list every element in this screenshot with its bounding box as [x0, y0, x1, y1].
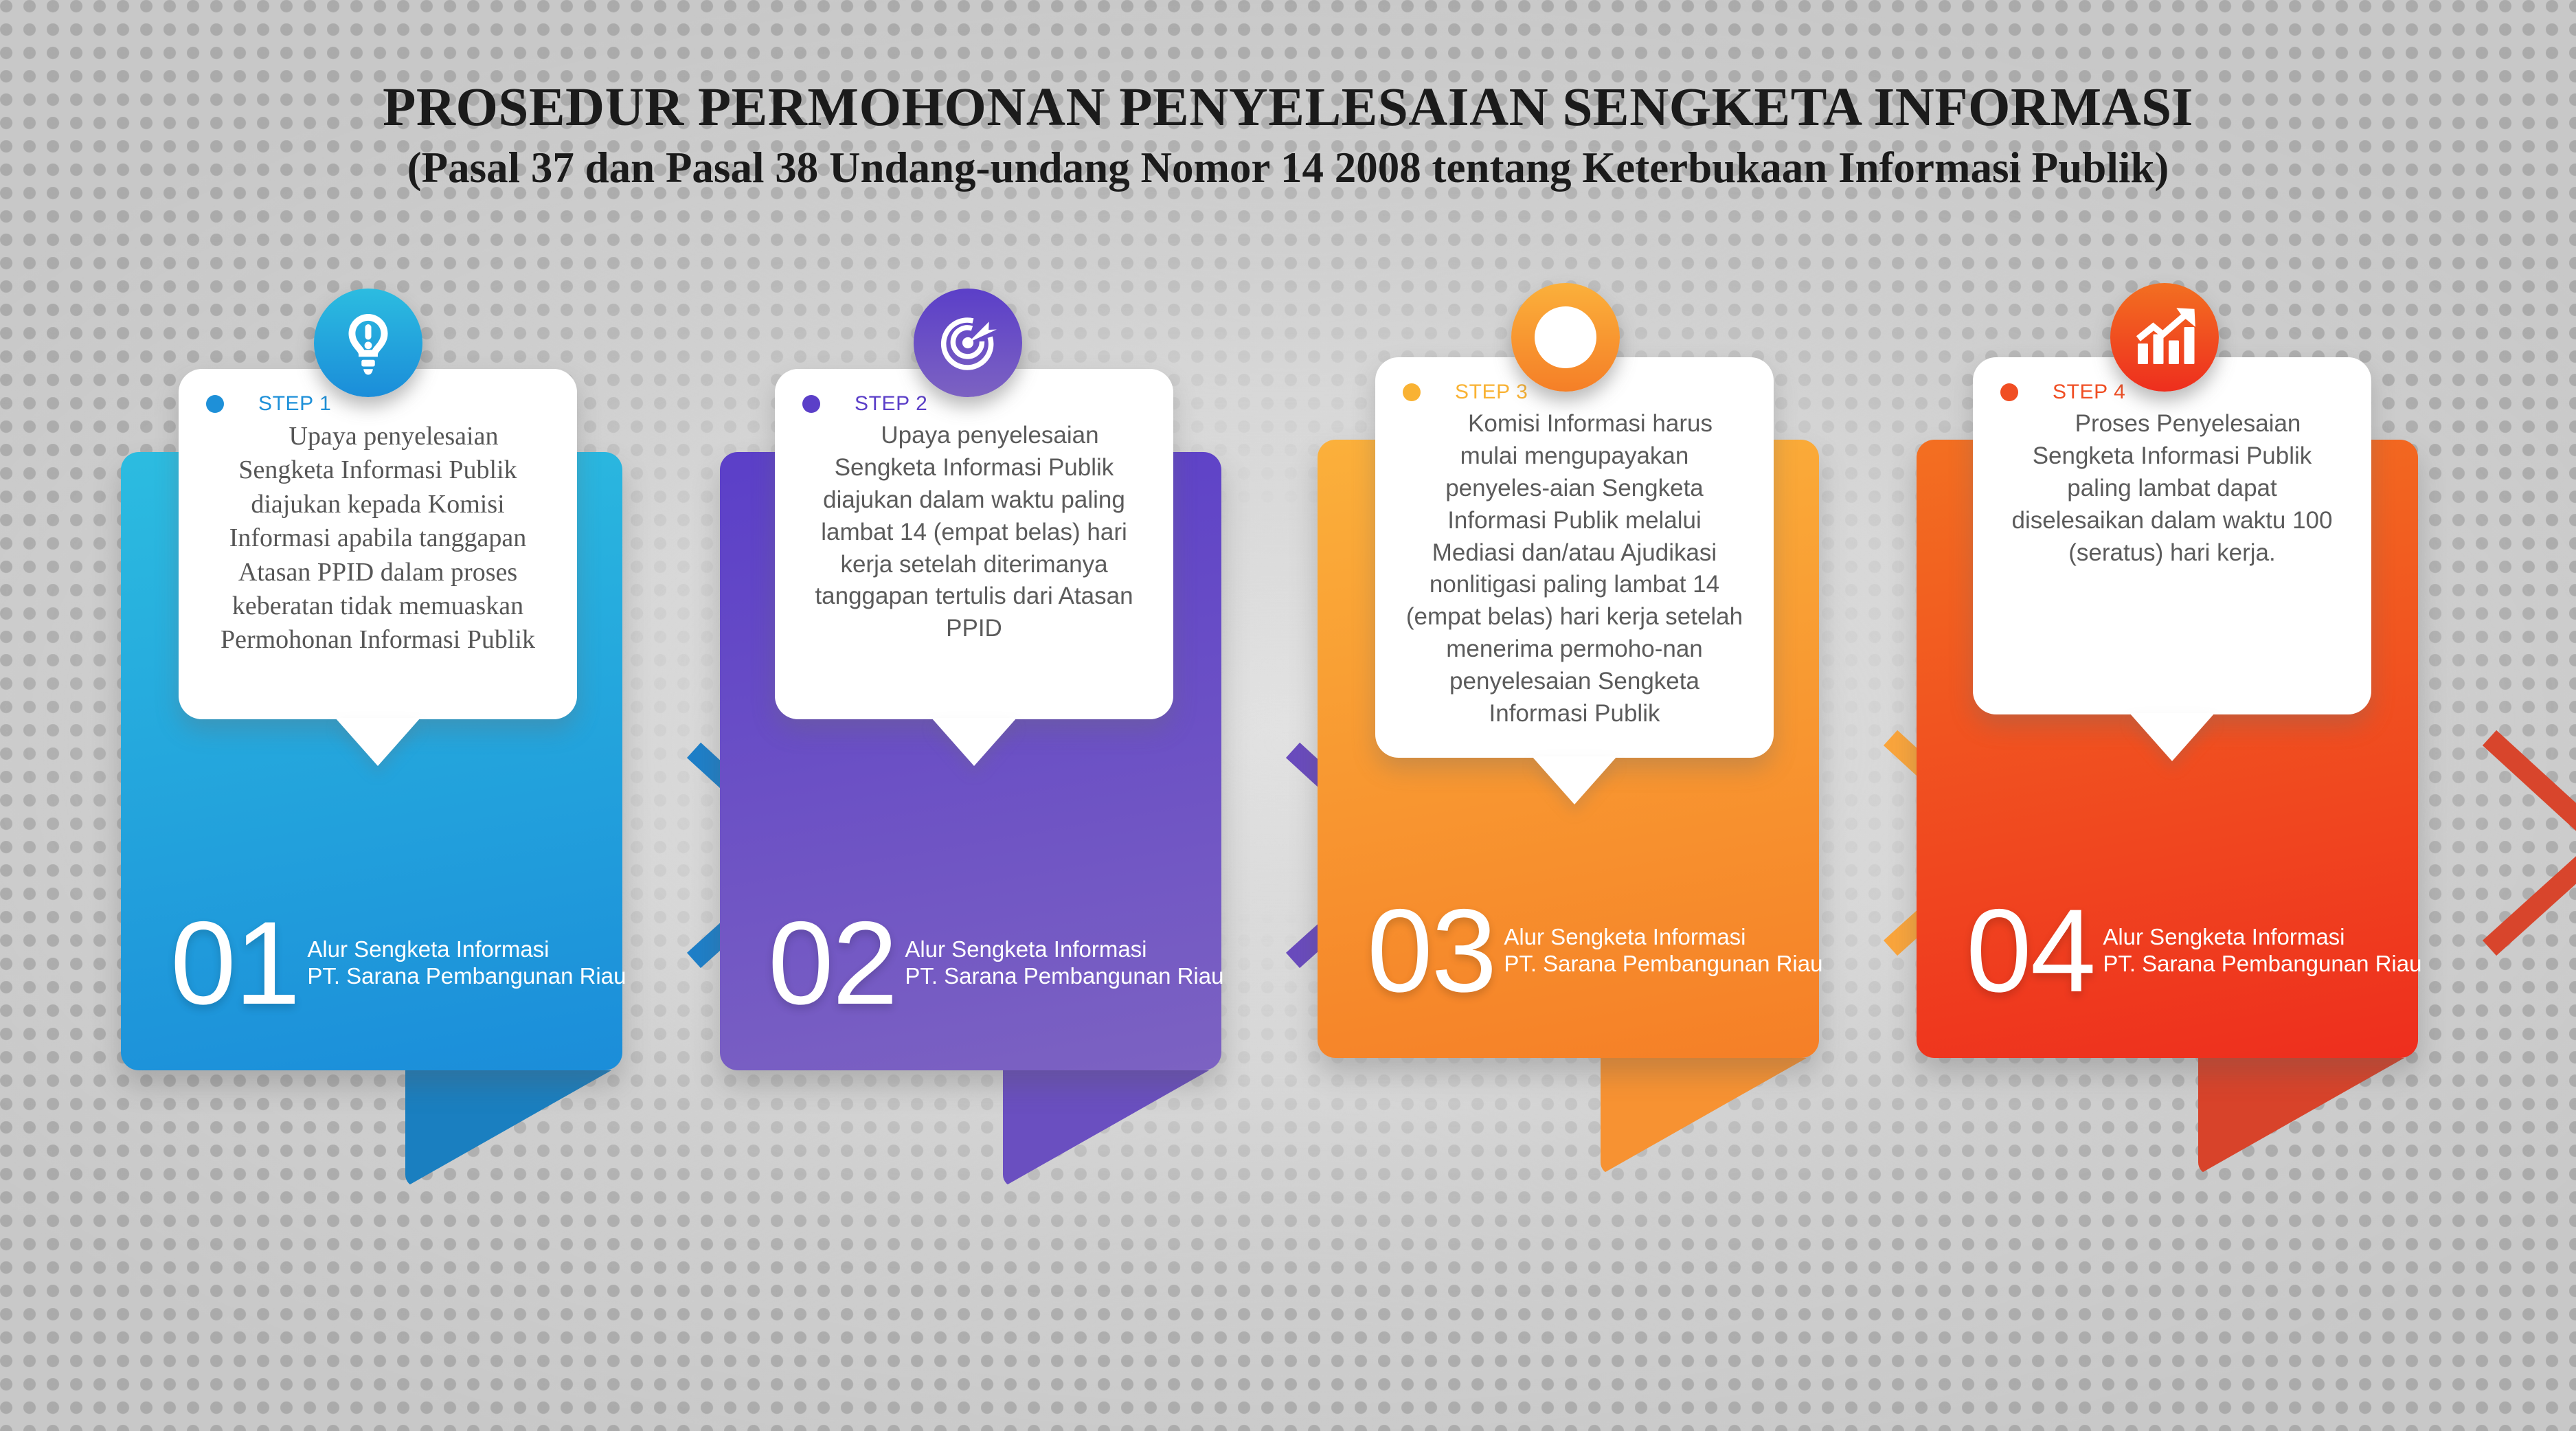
lightbulb-alert-icon	[314, 289, 422, 397]
step-body-text: Upaya penyelesaian Sengketa Informasi Pu…	[179, 416, 577, 685]
step-info-card: STEP 3Komisi Informasi harus mulai mengu…	[1375, 357, 1774, 758]
step-caption: Alur Sengketa InformasiPT. Sarana Pemban…	[905, 936, 1223, 990]
step-caption-line-1: Alur Sengketa Informasi	[2103, 924, 2421, 951]
step-number-row: 01Alur Sengketa InformasiPT. Sarana Pemb…	[170, 914, 626, 1013]
step-bullet-icon	[1403, 383, 1421, 401]
step-caption: Alur Sengketa InformasiPT. Sarana Pemban…	[307, 936, 626, 990]
step-body-text: Komisi Informasi harus mulai mengupayaka…	[1375, 404, 1774, 758]
step-body-text: Proses Penyelesaian Sengketa Informasi P…	[1973, 404, 2371, 596]
step-label: STEP 2	[855, 392, 927, 416]
step-body-text: Upaya penyelesaian Sengketa Informasi Pu…	[775, 416, 1173, 673]
step-number: 02	[768, 914, 896, 1013]
step-number-row: 04Alur Sengketa InformasiPT. Sarana Pemb…	[1966, 901, 2421, 1000]
step-bullet-icon	[2000, 383, 2018, 401]
step-bullet-icon	[206, 395, 224, 413]
step-label: STEP 4	[2053, 381, 2125, 404]
step-caption-line-2: PT. Sarana Pembangunan Riau	[307, 963, 626, 990]
step-ribbon-tail	[2198, 1058, 2404, 1175]
step-number-row: 03Alur Sengketa InformasiPT. Sarana Pemb…	[1367, 901, 1822, 1000]
target-arrow-icon	[914, 289, 1022, 397]
step-number-row: 02Alur Sengketa InformasiPT. Sarana Pemb…	[768, 914, 1223, 1013]
next-step-chevron-icon	[2483, 730, 2576, 956]
step-caption: Alur Sengketa InformasiPT. Sarana Pemban…	[1504, 924, 1822, 978]
growth-chart-icon	[2110, 283, 2219, 392]
step-caption-line-2: PT. Sarana Pembangunan Riau	[2103, 951, 2421, 978]
step-info-card: STEP 2Upaya penyelesaian Sengketa Inform…	[775, 369, 1173, 719]
step-number: 01	[170, 914, 299, 1013]
step-number: 04	[1966, 901, 2094, 1000]
step-bullet-icon	[802, 395, 820, 413]
step-caption-line-2: PT. Sarana Pembangunan Riau	[905, 963, 1223, 990]
step-number: 03	[1367, 901, 1495, 1000]
step-caption-line-1: Alur Sengketa Informasi	[1504, 924, 1822, 951]
step-caption-line-1: Alur Sengketa Informasi	[905, 936, 1223, 963]
step-caption: Alur Sengketa InformasiPT. Sarana Pemban…	[2103, 924, 2421, 978]
step-info-card: STEP 1Upaya penyelesaian Sengketa Inform…	[179, 369, 577, 719]
title-line-2: (Pasal 37 dan Pasal 38 Undang-undang Nom…	[0, 142, 2576, 194]
step-label: STEP 3	[1455, 381, 1528, 404]
step-ribbon-tail	[1601, 1058, 1807, 1175]
step-ribbon-tail	[405, 1070, 611, 1187]
step-caption-line-1: Alur Sengketa Informasi	[307, 936, 626, 963]
title-line-1: PROSEDUR PERMOHONAN PENYELESAIAN SENGKET…	[0, 79, 2576, 137]
step-label: STEP 1	[258, 392, 331, 416]
step-info-card: STEP 4Proses Penyelesaian Sengketa Infor…	[1973, 357, 2371, 714]
ring-donut-icon	[1511, 283, 1620, 392]
page-title: PROSEDUR PERMOHONAN PENYELESAIAN SENGKET…	[0, 79, 2576, 194]
step-ribbon-tail	[1003, 1070, 1209, 1187]
step-caption-line-2: PT. Sarana Pembangunan Riau	[1504, 951, 1822, 978]
